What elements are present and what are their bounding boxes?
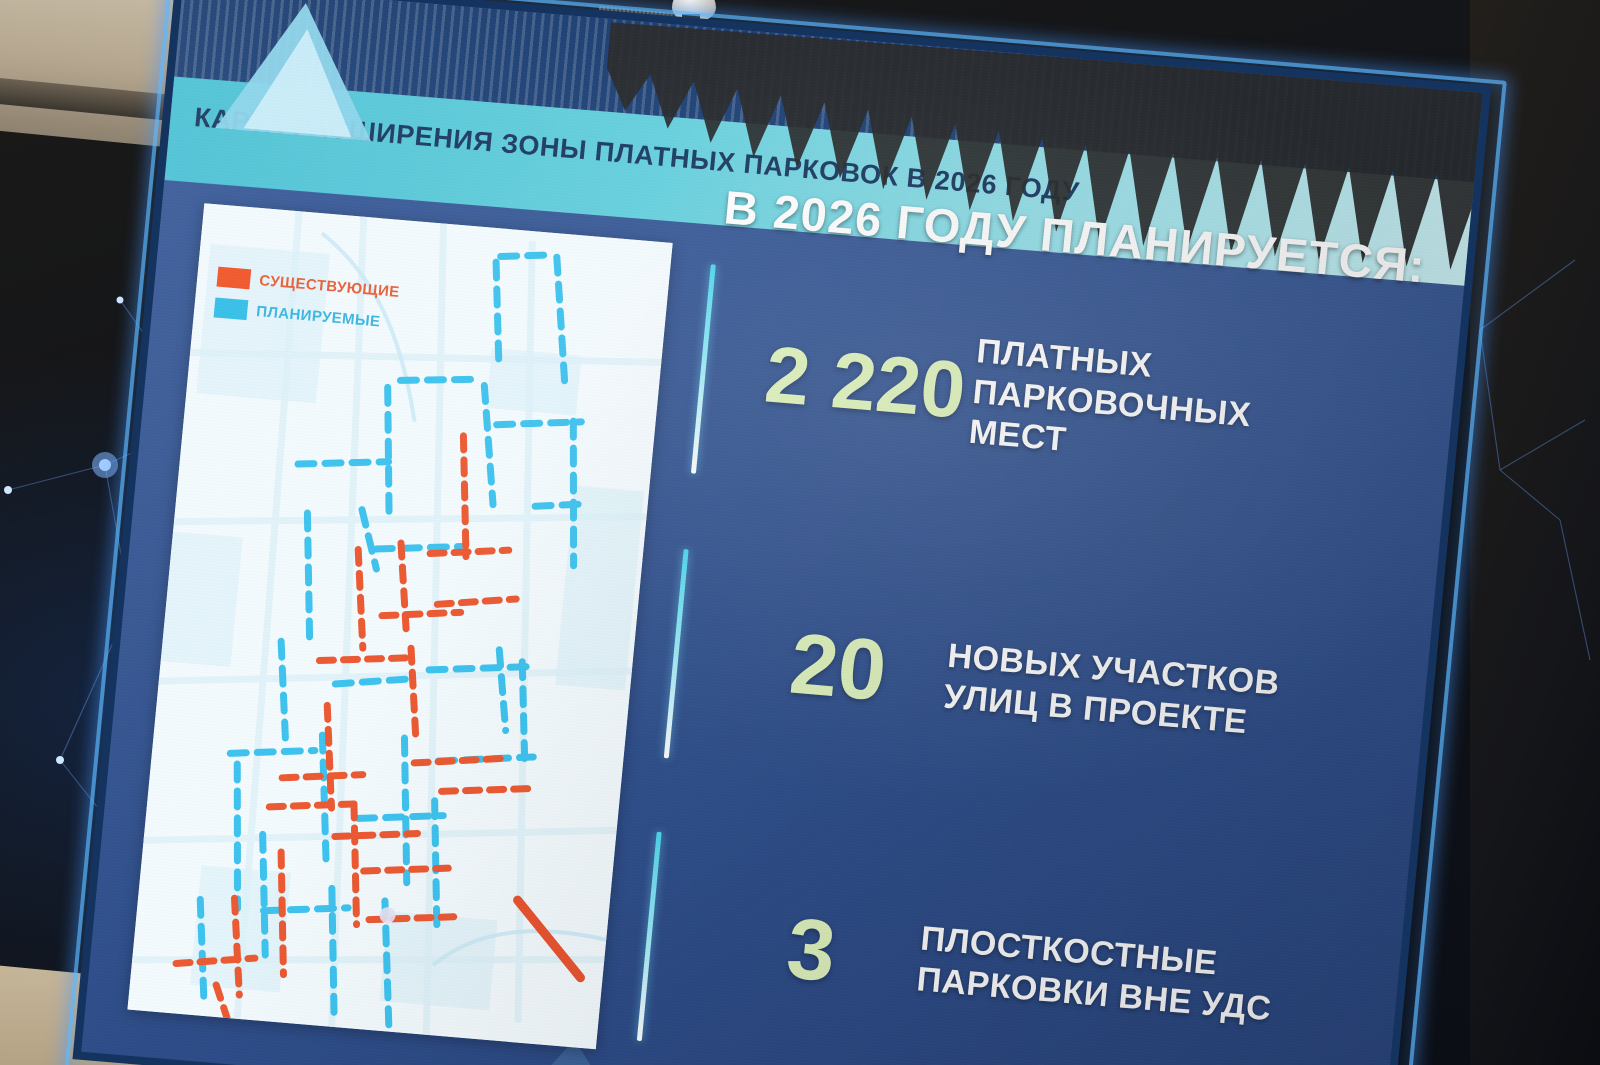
stat-accent-bar <box>664 549 689 758</box>
parking-zone-map <box>127 203 672 1049</box>
stat-block-street-sections: 20 НОВЫХ УЧАСТКОВ УЛИЦ В ПРОЕКТЕ <box>664 549 1288 809</box>
stat-number: 20 <box>726 615 949 719</box>
stat-label: ПЛОСТКОСТНЫЕ ПАРКОВКИ ВНЕ УДС <box>915 919 1277 1030</box>
projection-screen: КАРТА РАСШИРЕНИЯ ЗОНЫ ПЛАТНЫХ ПАРКОВОК В… <box>72 0 1491 1065</box>
stat-label: НОВЫХ УЧАСТКОВ УЛИЦ В ПРОЕКТЕ <box>942 636 1282 745</box>
stat-block-flat-parkings: 3 ПЛОСТКОСТНЫЕ ПАРКОВКИ ВНЕ УДС <box>637 832 1283 1065</box>
conference-room-photo: КАРТА РАСШИРЕНИЯ ЗОНЫ ПЛАТНЫХ ПАРКОВОК В… <box>0 0 1600 1065</box>
presentation-slide: КАРТА РАСШИРЕНИЯ ЗОНЫ ПЛАТНЫХ ПАРКОВОК В… <box>81 0 1482 1065</box>
logo-triangle-inner-icon <box>244 25 361 138</box>
stat-accent-bar <box>691 264 716 473</box>
stat-number: 3 <box>699 898 922 1002</box>
stat-accent-bar <box>637 832 662 1041</box>
stat-block-parking-spaces: 2 220 ПЛАТНЫХ ПАРКОВОЧНЫХ МЕСТ <box>691 264 1261 520</box>
stat-label: ПЛАТНЫХ ПАРКОВОЧНЫХ МЕСТ <box>967 331 1257 476</box>
legend-label-planned: ПЛАНИРУЕМЫЕ <box>256 303 382 330</box>
legend-item-planned: ПЛАНИРУЕМЫЕ <box>214 297 398 332</box>
stat-number: 2 220 <box>754 334 977 432</box>
map-card: СУЩЕСТВУЮЩИЕ ПЛАНИРУЕМЫЕ <box>127 203 672 1049</box>
cyan-swatch-icon <box>214 297 249 320</box>
orange-swatch-icon <box>217 267 252 290</box>
